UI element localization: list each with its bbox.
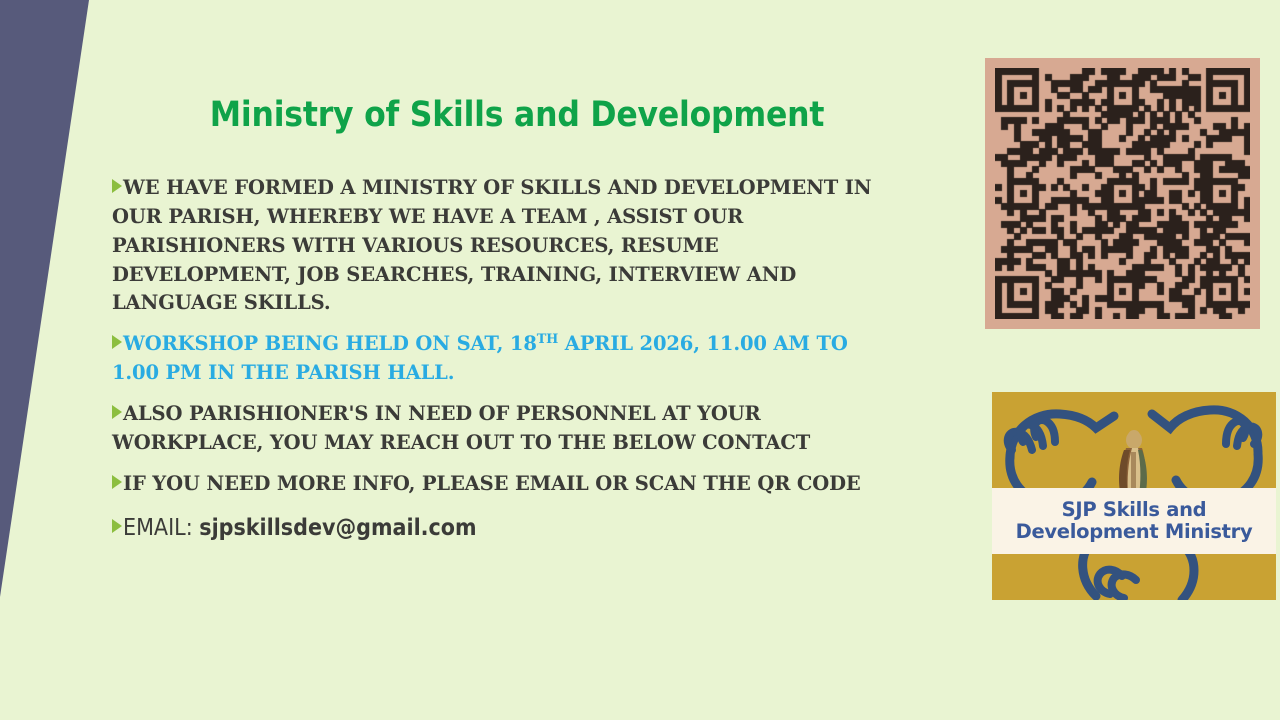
logo-banner-line-1: SJP Skills and — [1062, 499, 1207, 521]
triangle-bullet-icon — [112, 335, 122, 349]
bullet-text-workshop: Workshop being held on Sat, 18th April 2… — [112, 332, 848, 384]
bullet-text-more-info: If you need more info, please email or s… — [123, 472, 861, 495]
email-label: EMAIL: — [123, 515, 199, 541]
list-item-email: EMAIL: sjpskillsdev@gmail.com — [112, 511, 872, 545]
list-item: We have formed a ministry of skills and … — [112, 174, 872, 318]
triangle-bullet-icon — [112, 405, 122, 419]
bullet-list: We have formed a ministry of skills and … — [112, 174, 872, 545]
qr-code-panel — [985, 58, 1260, 329]
saint-figure-icon — [1119, 430, 1147, 496]
corner-wedge-decoration — [0, 0, 95, 600]
qr-code — [995, 68, 1250, 319]
list-item: Also parishioner's in need of personnel … — [112, 400, 872, 458]
sjp-logo: SJP Skills and Development Ministry — [992, 392, 1276, 600]
list-item: Workshop being held on Sat, 18th April 2… — [112, 330, 872, 388]
triangle-bullet-icon — [112, 475, 122, 489]
page-title: Ministry of Skills and Development — [112, 96, 922, 135]
bullet-text-personnel: Also parishioner's in need of personnel … — [112, 402, 810, 454]
slide-canvas: Ministry of Skills and Development We ha… — [0, 0, 1280, 720]
triangle-bullet-icon — [112, 519, 122, 533]
triangle-bullet-icon — [112, 179, 122, 193]
email-address[interactable]: sjpskillsdev@gmail.com — [199, 515, 476, 541]
workshop-ordinal-suffix: th — [537, 332, 558, 347]
bullet-text-ministry-formed: We have formed a ministry of skills and … — [112, 176, 871, 314]
email-line: EMAIL: sjpskillsdev@gmail.com — [123, 515, 477, 541]
logo-banner: SJP Skills and Development Ministry — [992, 488, 1276, 554]
list-item: If you need more info, please email or s… — [112, 470, 872, 499]
logo-banner-line-2: Development Ministry — [1016, 521, 1253, 543]
workshop-text-before: Workshop being held on Sat, 18 — [123, 332, 537, 355]
